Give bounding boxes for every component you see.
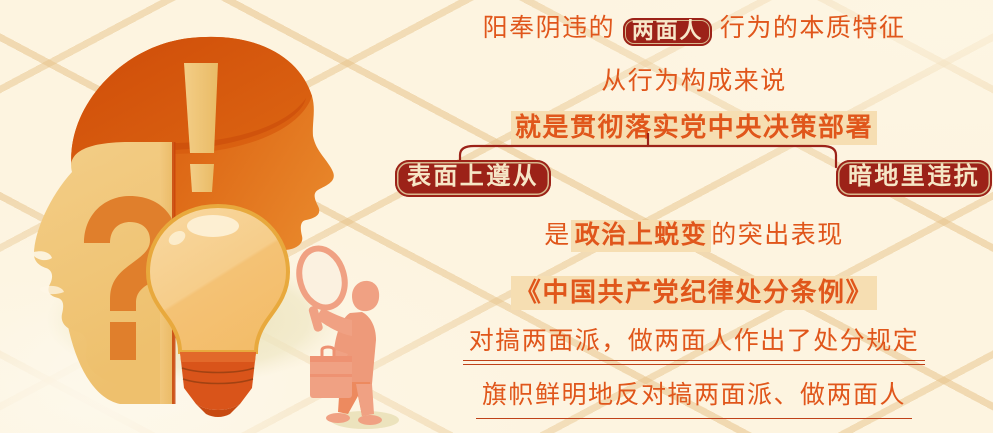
branch-right-wrapper: 暗地里违抗 [836,160,992,197]
ruled-text-penalty-provision: 对搞两面派，做两面人作出了处分规定 [469,321,920,365]
line5-suffix: 的突出表现 [711,222,844,249]
branch-left-wrapper: 表面上遵从 [395,160,551,197]
branch-badges-row: 表面上遵从 暗地里违抗 [395,160,993,208]
line1-suffix: 行为的本质特征 [720,15,906,42]
headline-line-8: 旗帜鲜明地反对搞两面派、做两面人 [395,375,993,419]
line1-prefix: 阳奉阴违的 [483,15,616,42]
badge-surface-compliance: 表面上遵从 [395,160,551,197]
illustration-split-head [0,0,420,433]
badge-secret-defiance: 暗地里违抗 [836,160,992,197]
headline-line-5: 是政治上蜕变的突出表现 [395,215,993,251]
headline-line-6: 《中国共产党纪律处分条例》 [395,272,993,309]
bulb-highlight-large [187,215,239,237]
headline-line-1: 阳奉阴违的 两面人 行为的本质特征 [395,8,993,46]
line5-prefix: 是 [544,222,571,249]
infographic-canvas: 阳奉阴违的 两面人 行为的本质特征 从行为构成来说 就是贯彻落实党中央决策部署 … [0,0,993,433]
text-content-column: 阳奉阴违的 两面人 行为的本质特征 从行为构成来说 就是贯彻落实党中央决策部署 … [395,0,993,433]
highlight-political-degeneration: 政治上蜕变 [571,220,712,252]
headline-line-7: 对搞两面派，做两面人作出了处分规定 [395,321,993,365]
headline-line-2: 从行为构成来说 [395,61,993,97]
highlight-regulation-title: 《中国共产党纪律处分条例》 [511,276,877,310]
badge-liangmianren: 两面人 [623,18,712,46]
ruled-text-oppose-twofaced: 旗帜鲜明地反对搞两面派、做两面人 [482,375,906,419]
